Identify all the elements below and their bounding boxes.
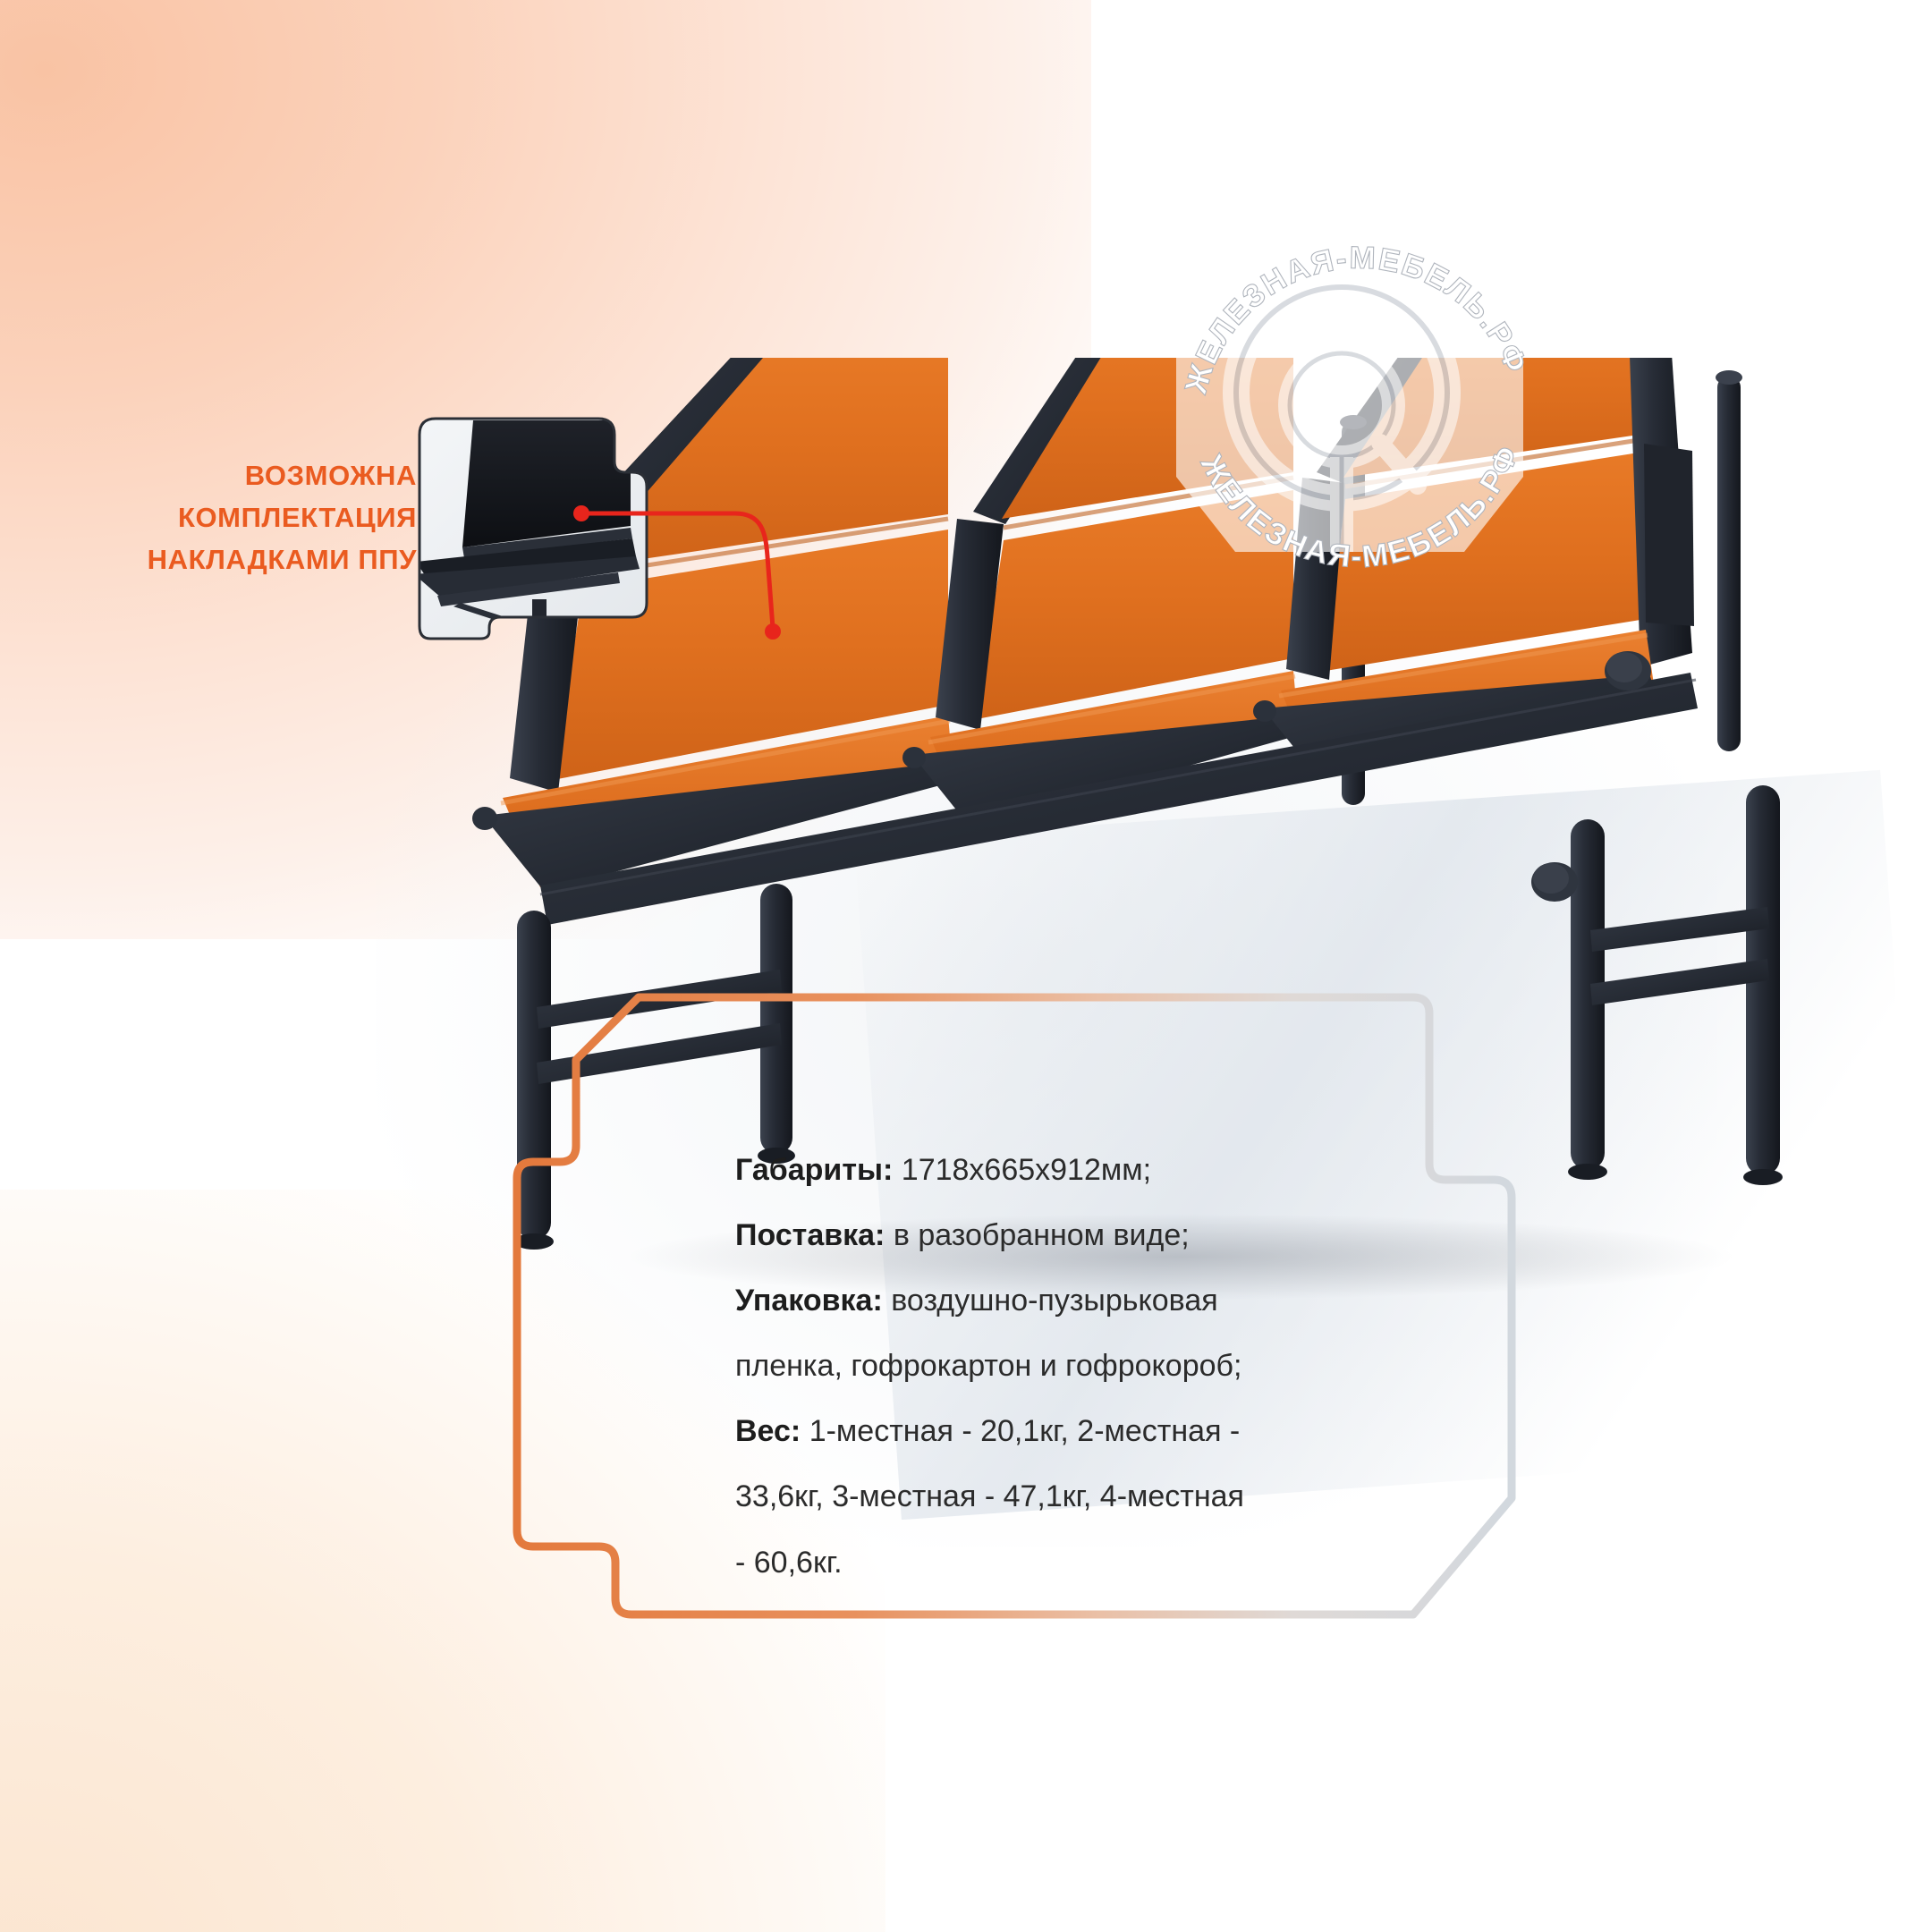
spec-row-dimensions: Габариты: 1718x665x912мм; (735, 1138, 1469, 1203)
spec-row-weight: Вес: 1-местная - 20,1кг, 2-местная - (735, 1399, 1469, 1464)
spec-label-weight: Вес: (735, 1414, 801, 1448)
inset-backrest-bare (462, 420, 631, 547)
spec-value-dimensions: 1718x665x912мм; (902, 1153, 1151, 1187)
callout-line-1: ВОЗМОЖНА (77, 454, 417, 496)
product-infographic: ЖЕЛЕЗНАЯ-МЕБЕЛЬ.РФ ЖЕЛЕЗНАЯ-МЕБЕЛЬ.РФ ВО… (0, 0, 1932, 1932)
spec-row-delivery: Поставка: в разобранном виде; (735, 1203, 1469, 1268)
spec-label-dimensions: Габариты: (735, 1153, 893, 1187)
spec-row-weight-cont-2: - 60,6кг. (735, 1530, 1469, 1596)
callout-line-2: КОМПЛЕКТАЦИЯ (77, 496, 417, 538)
spec-value-weight-cont-2: - 60,6кг. (735, 1546, 843, 1580)
callout-line-3: НАКЛАДКАМИ ППУ (77, 538, 417, 580)
spec-value-packaging: воздушно-пузырьковая (891, 1284, 1217, 1318)
leg-second (760, 884, 792, 1154)
ppu-callout-label: ВОЗМОЖНА КОМПЛЕКТАЦИЯ НАКЛАДКАМИ ППУ (77, 454, 417, 580)
spec-label-packaging: Упаковка: (735, 1284, 883, 1318)
spec-row-packaging: Упаковка: воздушно-пузырьковая (735, 1268, 1469, 1334)
spec-row-weight-cont-1: 33,6кг, 3-местная - 47,1кг, 4-местная (735, 1464, 1469, 1529)
spec-value-weight-cont-1: 33,6кг, 3-местная - 47,1кг, 4-местная (735, 1479, 1244, 1513)
spec-value-weight: 1-местная - 20,1кг, 2-местная - (809, 1414, 1241, 1448)
spec-label-delivery: Поставка: (735, 1218, 885, 1252)
detail-inset-bare-seat (407, 411, 657, 644)
spec-row-packaging-cont: пленка, гофрокартон и гофрокороб; (735, 1334, 1469, 1399)
spec-list: Габариты: 1718x665x912мм; Поставка: в ра… (735, 1138, 1469, 1596)
spec-value-packaging-cont: пленка, гофрокартон и гофрокороб; (735, 1349, 1241, 1383)
spec-value-delivery: в разобранном виде; (894, 1218, 1190, 1252)
